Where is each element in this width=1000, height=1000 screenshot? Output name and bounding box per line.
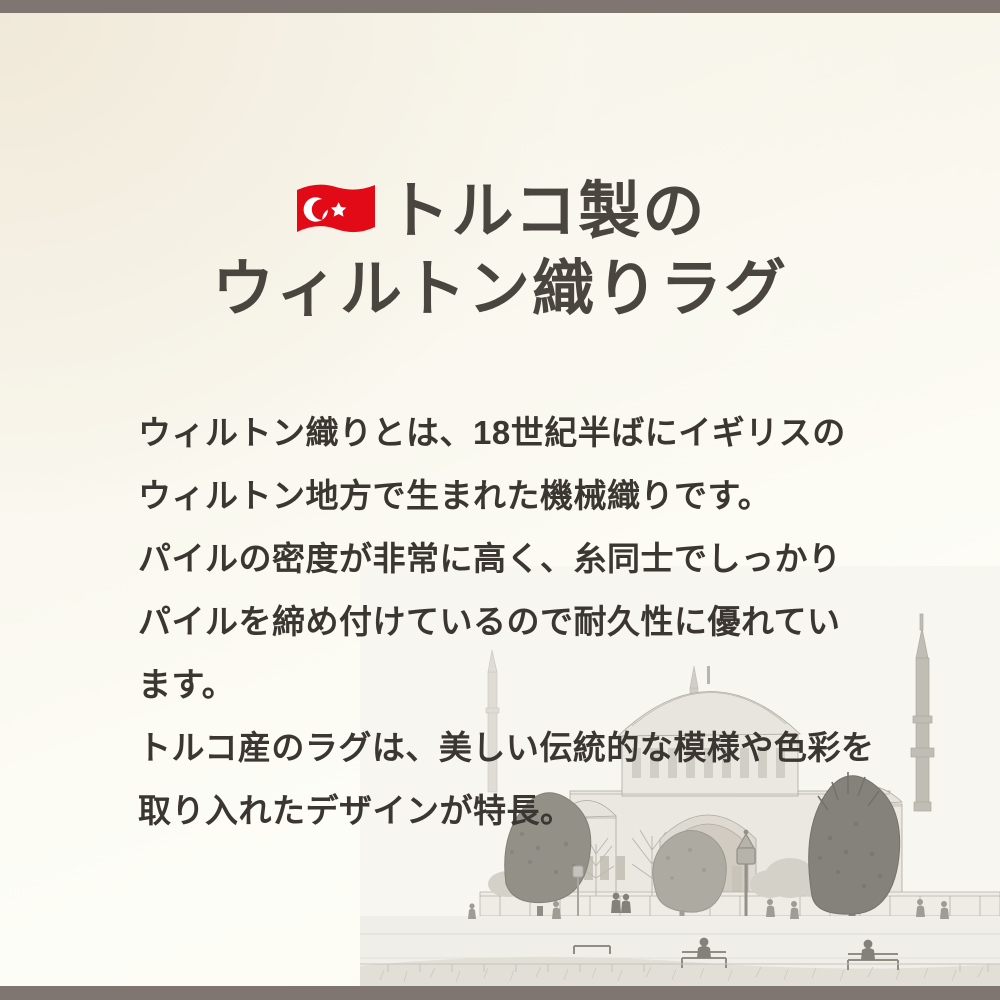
body-line: トルコ産のラグは、美しい伝統的な模様や色彩を	[138, 716, 898, 779]
body-line: パイルを締め付けているので耐久性に優れてい	[138, 590, 898, 653]
title-line-2: ウィルトン織りラグ	[0, 251, 1000, 329]
body-line: ウィルトン織りとは、18世紀半ばにイギリスの	[138, 401, 898, 464]
turkey-flag-icon	[294, 180, 378, 238]
content-area: トルコ製の ウィルトン織りラグ ウィルトン織りとは、18世紀半ばにイギリスの ウ…	[0, 13, 1000, 986]
page-canvas: トルコ製の ウィルトン織りラグ ウィルトン織りとは、18世紀半ばにイギリスの ウ…	[0, 13, 1000, 986]
bottom-frame-bar	[0, 986, 1000, 1000]
body-line: ウィルトン地方で生まれた機械織りです。	[138, 464, 898, 527]
title-line-1: トルコ製の	[0, 173, 1000, 251]
top-frame-bar	[0, 0, 1000, 13]
page-title: トルコ製の ウィルトン織りラグ	[0, 173, 1000, 329]
title-line-1-text: トルコ製の	[388, 177, 707, 246]
body-line: パイルの密度が非常に高く、糸同士でしっかり	[138, 527, 898, 590]
body-line: ます。	[138, 653, 898, 716]
body-line: 取り入れたデザインが特長。	[138, 779, 898, 842]
page-root: トルコ製の ウィルトン織りラグ ウィルトン織りとは、18世紀半ばにイギリスの ウ…	[0, 0, 1000, 1000]
body-paragraph: ウィルトン織りとは、18世紀半ばにイギリスの ウィルトン地方で生まれた機械織りで…	[138, 401, 898, 842]
